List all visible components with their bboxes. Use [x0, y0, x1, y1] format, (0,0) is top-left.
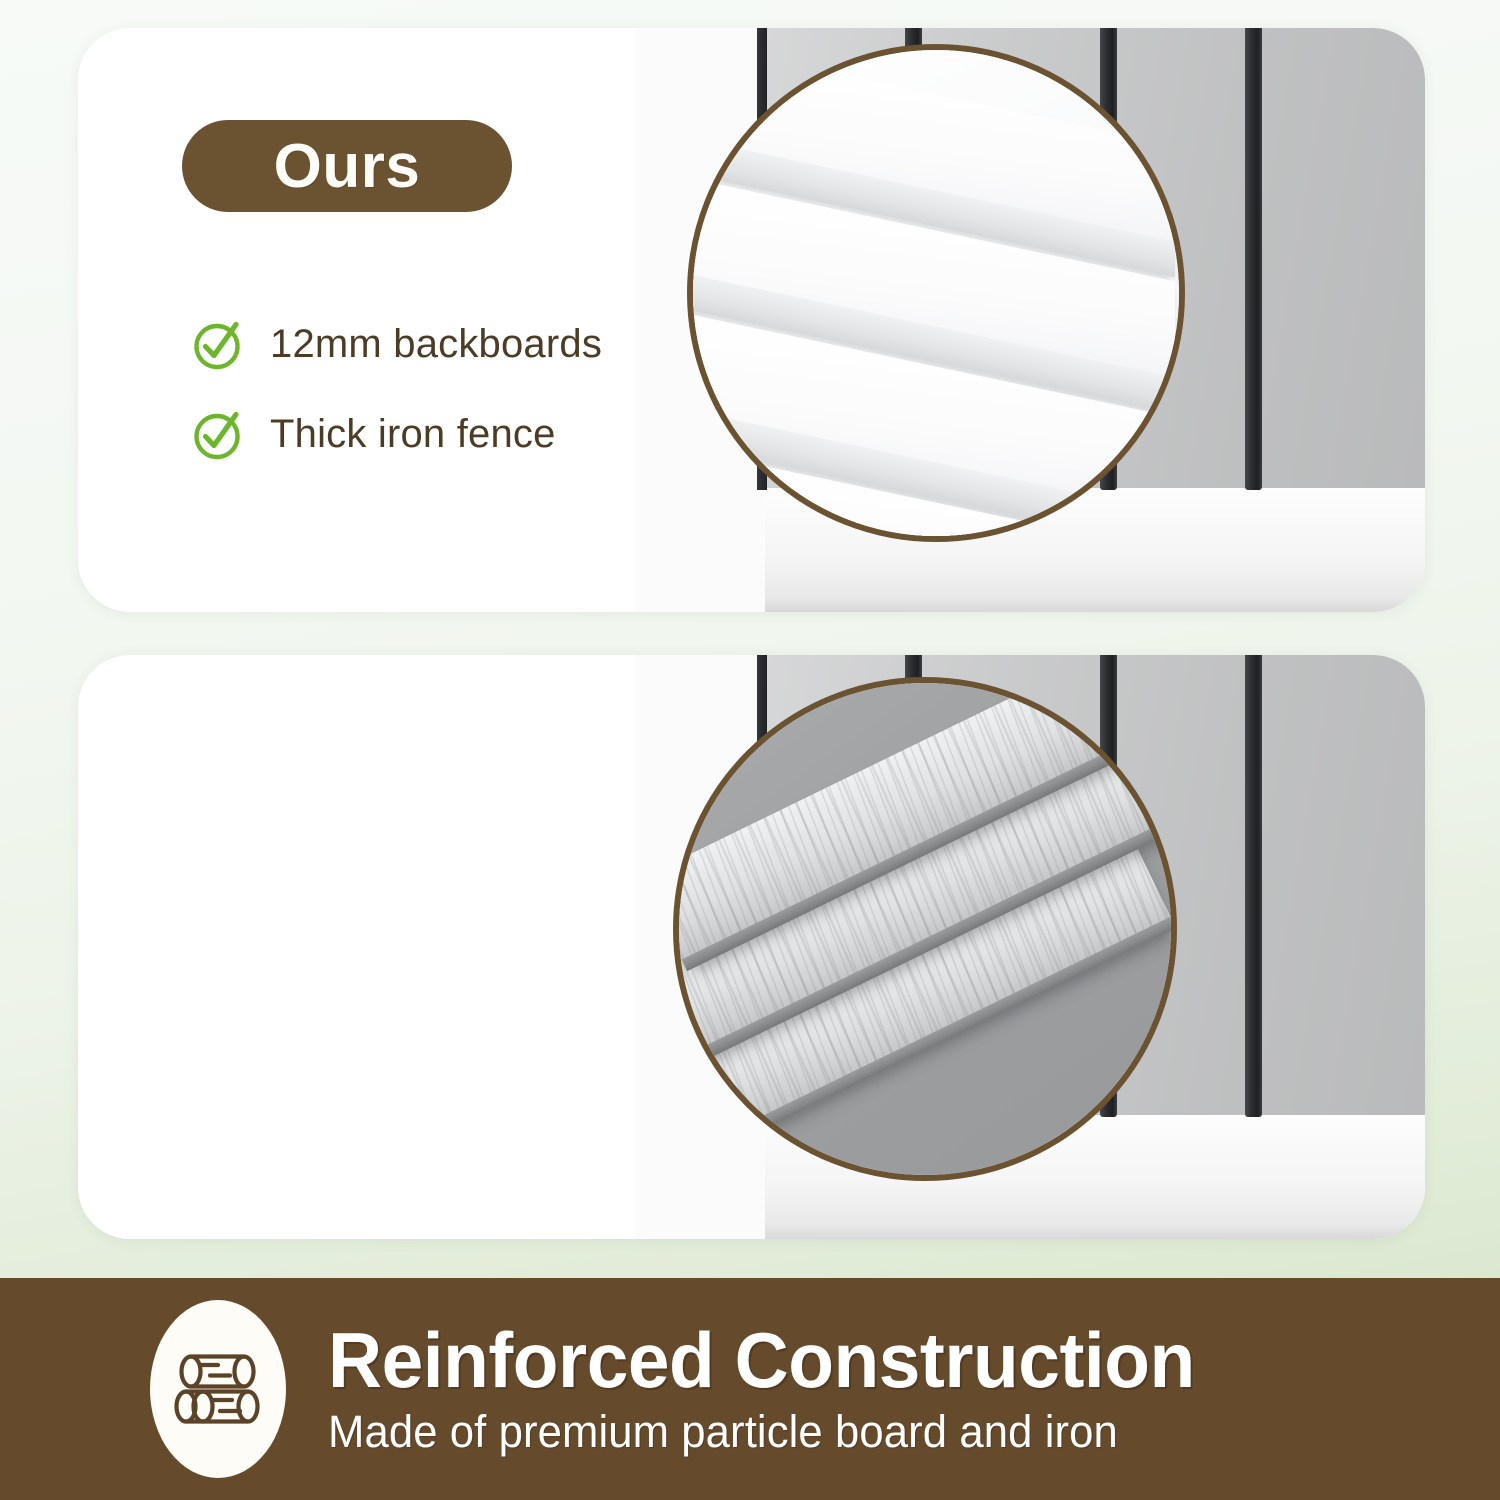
feature-row: Thick iron fence: [190, 406, 602, 462]
magnifier-content-ours: [693, 50, 1179, 536]
magnifier-content-others: [679, 683, 1171, 1175]
stacked-logs-icon: [170, 1350, 266, 1428]
banner-title: Reinforced Construction: [328, 1321, 1195, 1401]
badge-ours-label: Ours: [274, 131, 421, 202]
photo-others: [635, 655, 1425, 1239]
badge-ours: Ours: [182, 120, 512, 212]
bottom-banner: Reinforced Construction Made of premium …: [0, 1278, 1500, 1500]
check-circle-icon: [190, 318, 244, 372]
check-circle-icon: [190, 408, 244, 462]
feature-label: Thick iron fence: [270, 406, 556, 460]
banner-subtitle: Made of premium particle board and iron: [328, 1407, 1204, 1457]
feature-row: 12mm backboards: [190, 316, 602, 372]
feature-list-ours: 12mm backboards Thick iron fence: [190, 316, 602, 462]
magnifier-circle-ours: [687, 44, 1185, 542]
comparison-card-ours: Ours 12mm backboards: [78, 28, 1425, 612]
iron-bar: [1245, 28, 1262, 490]
iron-bar: [1245, 655, 1262, 1117]
feature-label: 12mm backboards: [270, 316, 602, 370]
infographic-page: Ours 12mm backboards: [0, 0, 1500, 1500]
comparison-card-others: Others Inferior thin backboards: [78, 655, 1425, 1239]
banner-icon-badge: [150, 1300, 286, 1478]
banner-text-group: Reinforced Construction Made of premium …: [328, 1321, 1231, 1457]
magnifier-circle-others: [673, 677, 1177, 1181]
photo-ours: [635, 28, 1425, 612]
